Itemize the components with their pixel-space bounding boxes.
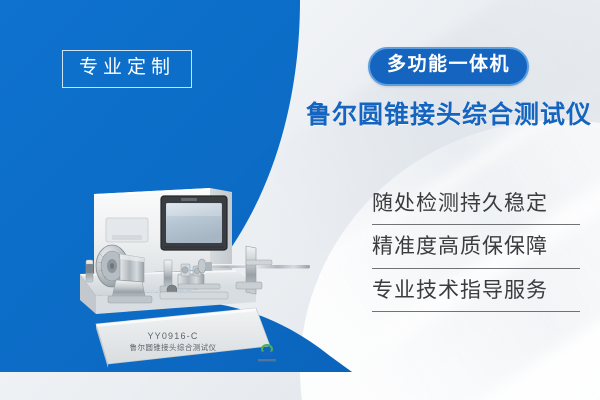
manufacturer-logo <box>256 341 278 363</box>
feature-item: 精准度高质保保障 <box>372 233 580 268</box>
feature-item: 专业技术指导服务 <box>372 277 580 312</box>
custom-made-badge: 专业定制 <box>62 50 192 88</box>
page-title: 鲁尔圆锥接头综合测试仪 <box>306 95 592 131</box>
feature-label: 专业技术指导服务 <box>372 277 580 305</box>
promo-banner: 专业定制 多功能一体机 鲁尔圆锥接头综合测试仪 随处检测持久稳定 精准度高质保保… <box>0 0 600 400</box>
multifunction-pill-badge: 多功能一体机 <box>368 47 529 86</box>
feature-label: 随处检测持久稳定 <box>372 190 580 218</box>
feature-item: 随处检测持久稳定 <box>372 190 580 225</box>
feature-label: 精准度高质保保障 <box>372 233 580 261</box>
feature-list: 随处检测持久稳定 精准度高质保保障 专业技术指导服务 <box>372 190 580 320</box>
